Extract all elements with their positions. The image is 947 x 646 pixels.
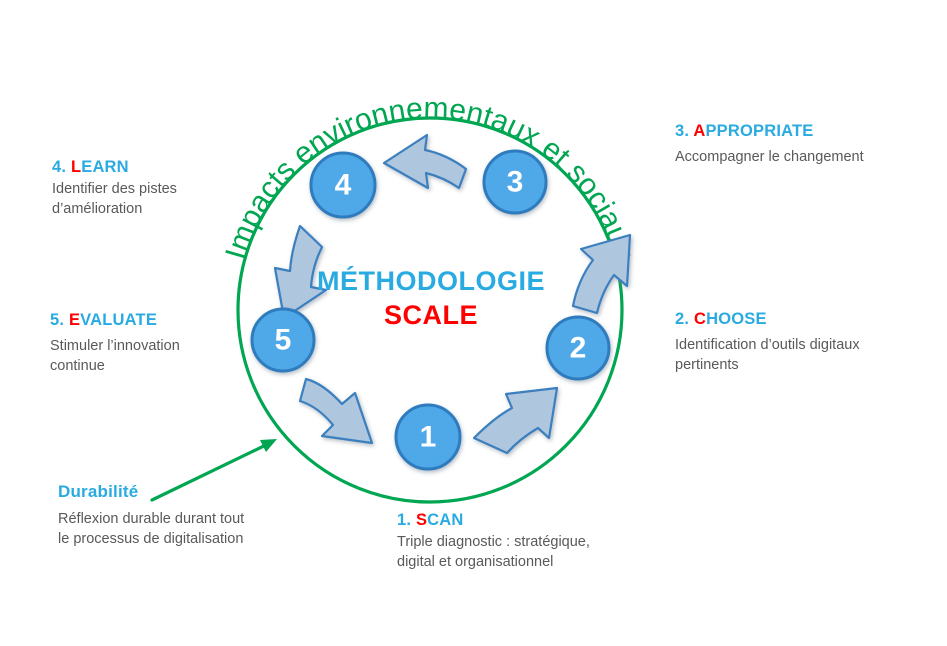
node-4-number: 4 bbox=[335, 169, 352, 202]
callout-scan-desc: Triple diagnostic : stratégique, digital… bbox=[397, 532, 590, 572]
callout-scan: 1. SCAN Triple diagnostic : stratégique,… bbox=[397, 511, 590, 572]
callout-appropriate-accent: A bbox=[693, 122, 705, 140]
callout-evaluate: 5. EVALUATE Stimuler l’innovation contin… bbox=[50, 311, 180, 376]
callout-evaluate-accent: E bbox=[69, 311, 80, 329]
callout-scan-accent: S bbox=[416, 511, 427, 529]
ring-label-text: Impacts environnementaux et sociaux bbox=[219, 92, 640, 263]
callout-learn-desc: Identifier des pistes d’amélioration bbox=[52, 179, 177, 219]
callout-learn-rest: EARN bbox=[81, 158, 129, 176]
callout-evaluate-desc: Stimuler l’innovation continue bbox=[50, 336, 180, 376]
callout-durabilite: Durabilité Réflexion durable durant tout… bbox=[58, 482, 244, 549]
callout-appropriate-number: 3. bbox=[675, 122, 693, 140]
callout-durabilite-title: Durabilité bbox=[58, 482, 244, 502]
callout-choose-accent: C bbox=[694, 310, 706, 328]
callout-choose-title: 2. CHOOSE bbox=[675, 310, 860, 329]
node-1[interactable]: 1 bbox=[396, 405, 460, 469]
callout-choose: 2. CHOOSE Identification d’outils digita… bbox=[675, 310, 860, 375]
callout-evaluate-number: 5. bbox=[50, 311, 69, 329]
callout-learn-title: 4. LEARN bbox=[52, 158, 177, 177]
callout-durabilite-desc: Réflexion durable durant tout le process… bbox=[58, 509, 244, 549]
node-3-number: 3 bbox=[507, 166, 524, 199]
callout-learn-number: 4. bbox=[52, 158, 71, 176]
node-1-number: 1 bbox=[420, 421, 437, 454]
callout-evaluate-rest: VALUATE bbox=[80, 311, 157, 329]
node-5-number: 5 bbox=[275, 324, 292, 357]
callout-scan-title: 1. SCAN bbox=[397, 511, 590, 530]
node-2-number: 2 bbox=[570, 332, 587, 365]
node-4[interactable]: 4 bbox=[311, 153, 375, 217]
callout-appropriate-desc: Accompagner le changement bbox=[675, 147, 864, 167]
node-2[interactable]: 2 bbox=[547, 317, 609, 379]
center-title-line2: SCALE bbox=[384, 300, 478, 330]
node-3[interactable]: 3 bbox=[484, 151, 546, 213]
node-5[interactable]: 5 bbox=[252, 309, 314, 371]
callout-choose-desc: Identification d’outils digitaux pertine… bbox=[675, 335, 860, 375]
arrow-3-to-4 bbox=[384, 135, 466, 188]
callout-choose-number: 2. bbox=[675, 310, 694, 328]
callout-learn-accent: L bbox=[71, 158, 81, 176]
callout-choose-rest: HOOSE bbox=[706, 310, 767, 328]
center-title-line1: MÉTHODOLOGIE bbox=[317, 265, 545, 296]
callout-appropriate-title: 3. APPROPRIATE bbox=[675, 122, 864, 141]
diagram-canvas: Impacts environnementaux et sociaux bbox=[0, 0, 947, 646]
ring-label: Impacts environnementaux et sociaux bbox=[219, 92, 640, 263]
callout-learn: 4. LEARN Identifier des pistes d’amélior… bbox=[52, 158, 177, 219]
callout-appropriate: 3. APPROPRIATE Accompagner le changement bbox=[675, 122, 864, 167]
callout-scan-rest: CAN bbox=[427, 511, 463, 529]
arrow-5-to-1 bbox=[300, 379, 372, 443]
callout-evaluate-title: 5. EVALUATE bbox=[50, 311, 180, 330]
callout-scan-number: 1. bbox=[397, 511, 416, 529]
arrow-1-to-2 bbox=[474, 388, 557, 453]
callout-appropriate-rest: PPROPRIATE bbox=[705, 122, 813, 140]
